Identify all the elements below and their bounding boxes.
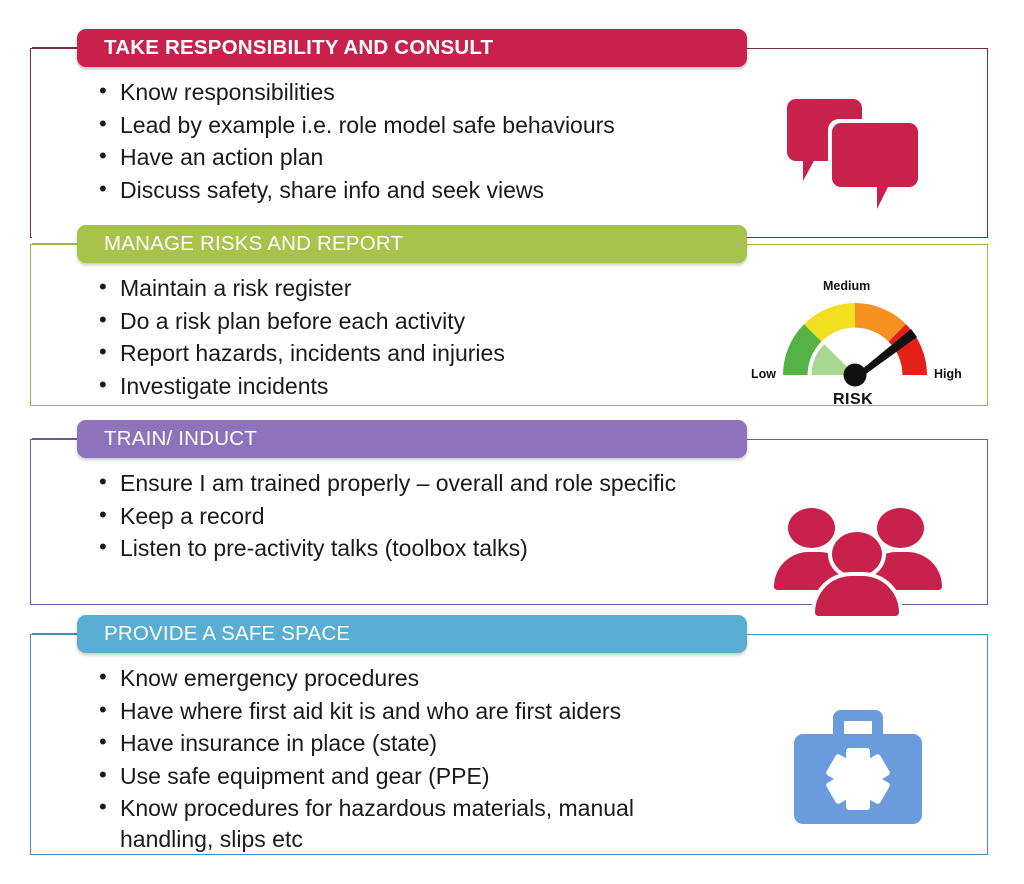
panel-header-connector-line (32, 633, 80, 635)
panel-provide-a-safe-space: PROVIDE A SAFE SPACE Know emergency proc… (30, 615, 988, 855)
panel-header-connector-line (32, 47, 80, 49)
risk-gauge-icon: Low Medium High RISK (735, 267, 975, 407)
gauge-label-medium: Medium (823, 279, 870, 293)
infographic-canvas: TAKE RESPONSIBILITY AND CONSULT Know res… (0, 0, 1024, 884)
bullet-list: Know emergency procedures Have where fir… (98, 663, 708, 854)
list-item: Report hazards, incidents and injuries (98, 338, 738, 369)
people-group-icon (782, 500, 942, 592)
person-center-head (832, 532, 882, 576)
panel-header-label: MANAGE RISKS AND REPORT (104, 232, 403, 256)
list-item: Know procedures for hazardous materials,… (98, 793, 708, 854)
gauge-caption-risk: RISK (833, 391, 873, 409)
bullet-list: Maintain a risk register Do a risk plan … (98, 273, 738, 401)
list-item: Ensure I am trained properly – overall a… (98, 468, 718, 499)
bullet-list: Know responsibilities Lead by example i.… (98, 77, 738, 205)
panel-manage-risks-and-report: MANAGE RISKS AND REPORT Maintain a risk … (30, 225, 988, 405)
speech-bubble-front (832, 123, 918, 187)
panel-header-connector-line (32, 243, 80, 245)
gauge-label-high: High (934, 367, 962, 381)
panel-header-train-induct: TRAIN/ INDUCT (77, 420, 747, 458)
panel-body: Maintain a risk register Do a risk plan … (98, 273, 738, 403)
panel-body: Know emergency procedures Have where fir… (98, 663, 708, 856)
list-item: Know responsibilities (98, 77, 738, 108)
list-item: Do a risk plan before each activity (98, 306, 738, 337)
panel-body: Know responsibilities Lead by example i.… (98, 77, 738, 207)
list-item: Have insurance in place (state) (98, 728, 708, 759)
speech-bubble-front-tail (877, 185, 902, 209)
panel-header-label: TAKE RESPONSIBILITY AND CONSULT (104, 36, 493, 60)
panel-header-label: PROVIDE A SAFE SPACE (104, 622, 350, 646)
panel-header-connector-line (32, 438, 80, 440)
person-left-head (788, 508, 835, 548)
person-right-head (877, 508, 924, 548)
list-item: Lead by example i.e. role model safe beh… (98, 110, 738, 141)
speech-bubbles-icon (785, 97, 925, 207)
speech-bubble-back-tail (803, 159, 829, 181)
bullet-list: Ensure I am trained properly – overall a… (98, 468, 718, 564)
list-item: Use safe equipment and gear (PPE) (98, 761, 708, 792)
list-item: Listen to pre-activity talks (toolbox ta… (98, 533, 718, 564)
list-item: Discuss safety, share info and seek view… (98, 175, 738, 206)
panel-body: Ensure I am trained properly – overall a… (98, 468, 718, 566)
panel-take-responsibility-and-consult: TAKE RESPONSIBILITY AND CONSULT Know res… (30, 29, 988, 209)
list-item: Keep a record (98, 501, 718, 532)
list-item: Know emergency procedures (98, 663, 708, 694)
list-item: Investigate incidents (98, 371, 738, 402)
panel-header-take-responsibility-and-consult: TAKE RESPONSIBILITY AND CONSULT (77, 29, 747, 67)
list-item: Have where first aid kit is and who are … (98, 696, 708, 727)
panel-header-provide-a-safe-space: PROVIDE A SAFE SPACE (77, 615, 747, 653)
panel-train-induct: TRAIN/ INDUCT Ensure I am trained proper… (30, 420, 988, 600)
list-item: Have an action plan (98, 142, 738, 173)
panel-header-manage-risks-and-report: MANAGE RISKS AND REPORT (77, 225, 747, 263)
panel-header-label: TRAIN/ INDUCT (104, 427, 257, 451)
gauge-label-low: Low (751, 367, 776, 381)
first-aid-kit-icon (792, 710, 932, 830)
list-item: Maintain a risk register (98, 273, 738, 304)
